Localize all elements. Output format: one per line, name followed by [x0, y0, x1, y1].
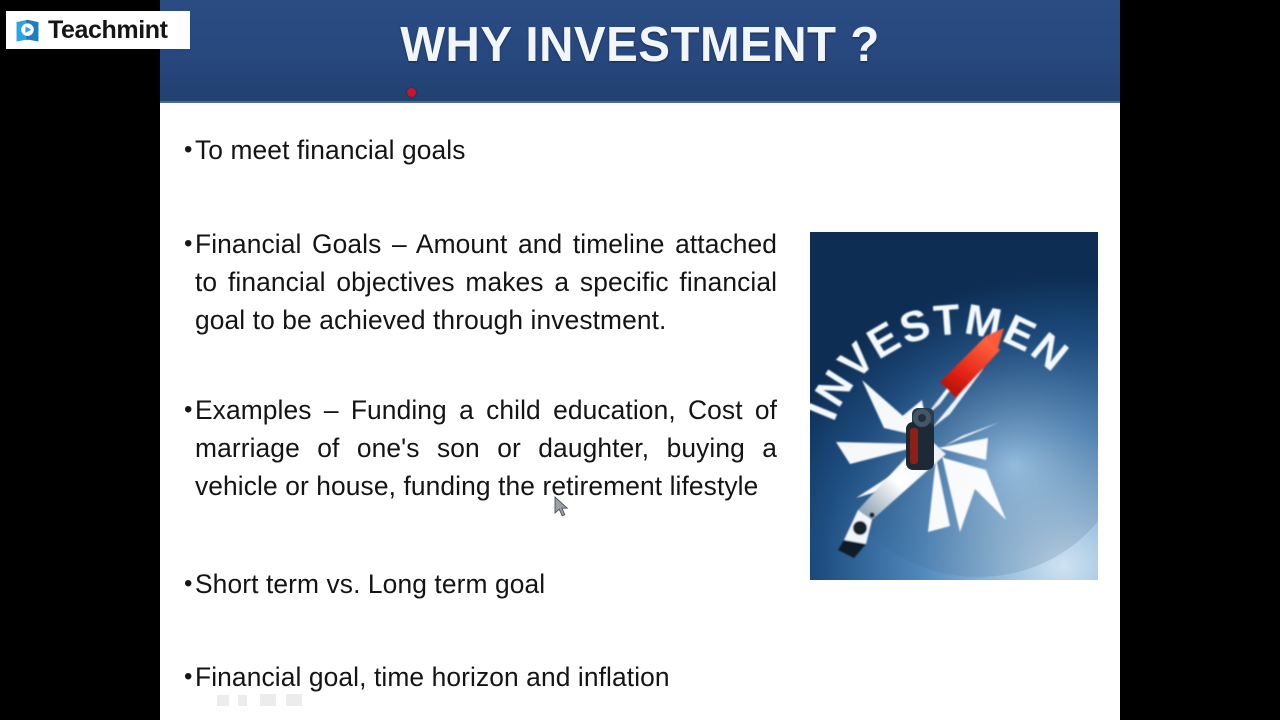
bullet-text-goal-horizon-inflation: Financial goal, time horizon and inflati… — [195, 658, 670, 696]
teachmint-logo: Teachmint — [6, 11, 190, 49]
bullet-text-examples: Examples – Funding a child education, Co… — [195, 391, 777, 505]
slide-edge-artifact — [260, 694, 276, 706]
bullet-marker-icon: • — [165, 391, 195, 429]
slide-body: • To meet financial goals • Financial Go… — [160, 103, 1120, 720]
list-item: • To meet financial goals — [165, 131, 865, 169]
compass-illustration-icon: INVESTMENT — [810, 232, 1098, 580]
presentation-slide: WHY INVESTMENT ? • To meet financial goa… — [160, 0, 1120, 720]
accent-dot-icon — [407, 88, 416, 97]
bullet-text-meet-goals: To meet financial goals — [195, 131, 466, 169]
slide-title-band: WHY INVESTMENT ? — [160, 0, 1120, 103]
list-item: • Financial goal, time horizon and infla… — [165, 658, 865, 696]
list-item: • Financial Goals – Amount and timeline … — [165, 225, 780, 339]
video-player-screen: WHY INVESTMENT ? • To meet financial goa… — [0, 0, 1280, 720]
investment-compass-image: INVESTMENT — [810, 232, 1098, 580]
slide-edge-artifact — [238, 695, 247, 706]
slide-edge-artifact — [286, 694, 302, 706]
bullet-text-short-vs-long: Short term vs. Long term goal — [195, 565, 545, 603]
slide-edge-artifact — [217, 695, 229, 706]
list-item: • Examples – Funding a child education, … — [165, 391, 780, 505]
bullet-marker-icon: • — [165, 565, 195, 603]
slide-title: WHY INVESTMENT ? — [174, 16, 1105, 74]
book-play-logo-icon — [14, 17, 41, 44]
bullet-marker-icon: • — [165, 131, 195, 169]
bullet-text-financial-goals: Financial Goals – Amount and timeline at… — [195, 225, 777, 339]
brand-name-label: Teachmint — [48, 17, 168, 44]
list-item: • Short term vs. Long term goal — [165, 565, 865, 603]
bullet-marker-icon: • — [165, 225, 195, 263]
bullet-marker-icon: • — [165, 658, 195, 696]
